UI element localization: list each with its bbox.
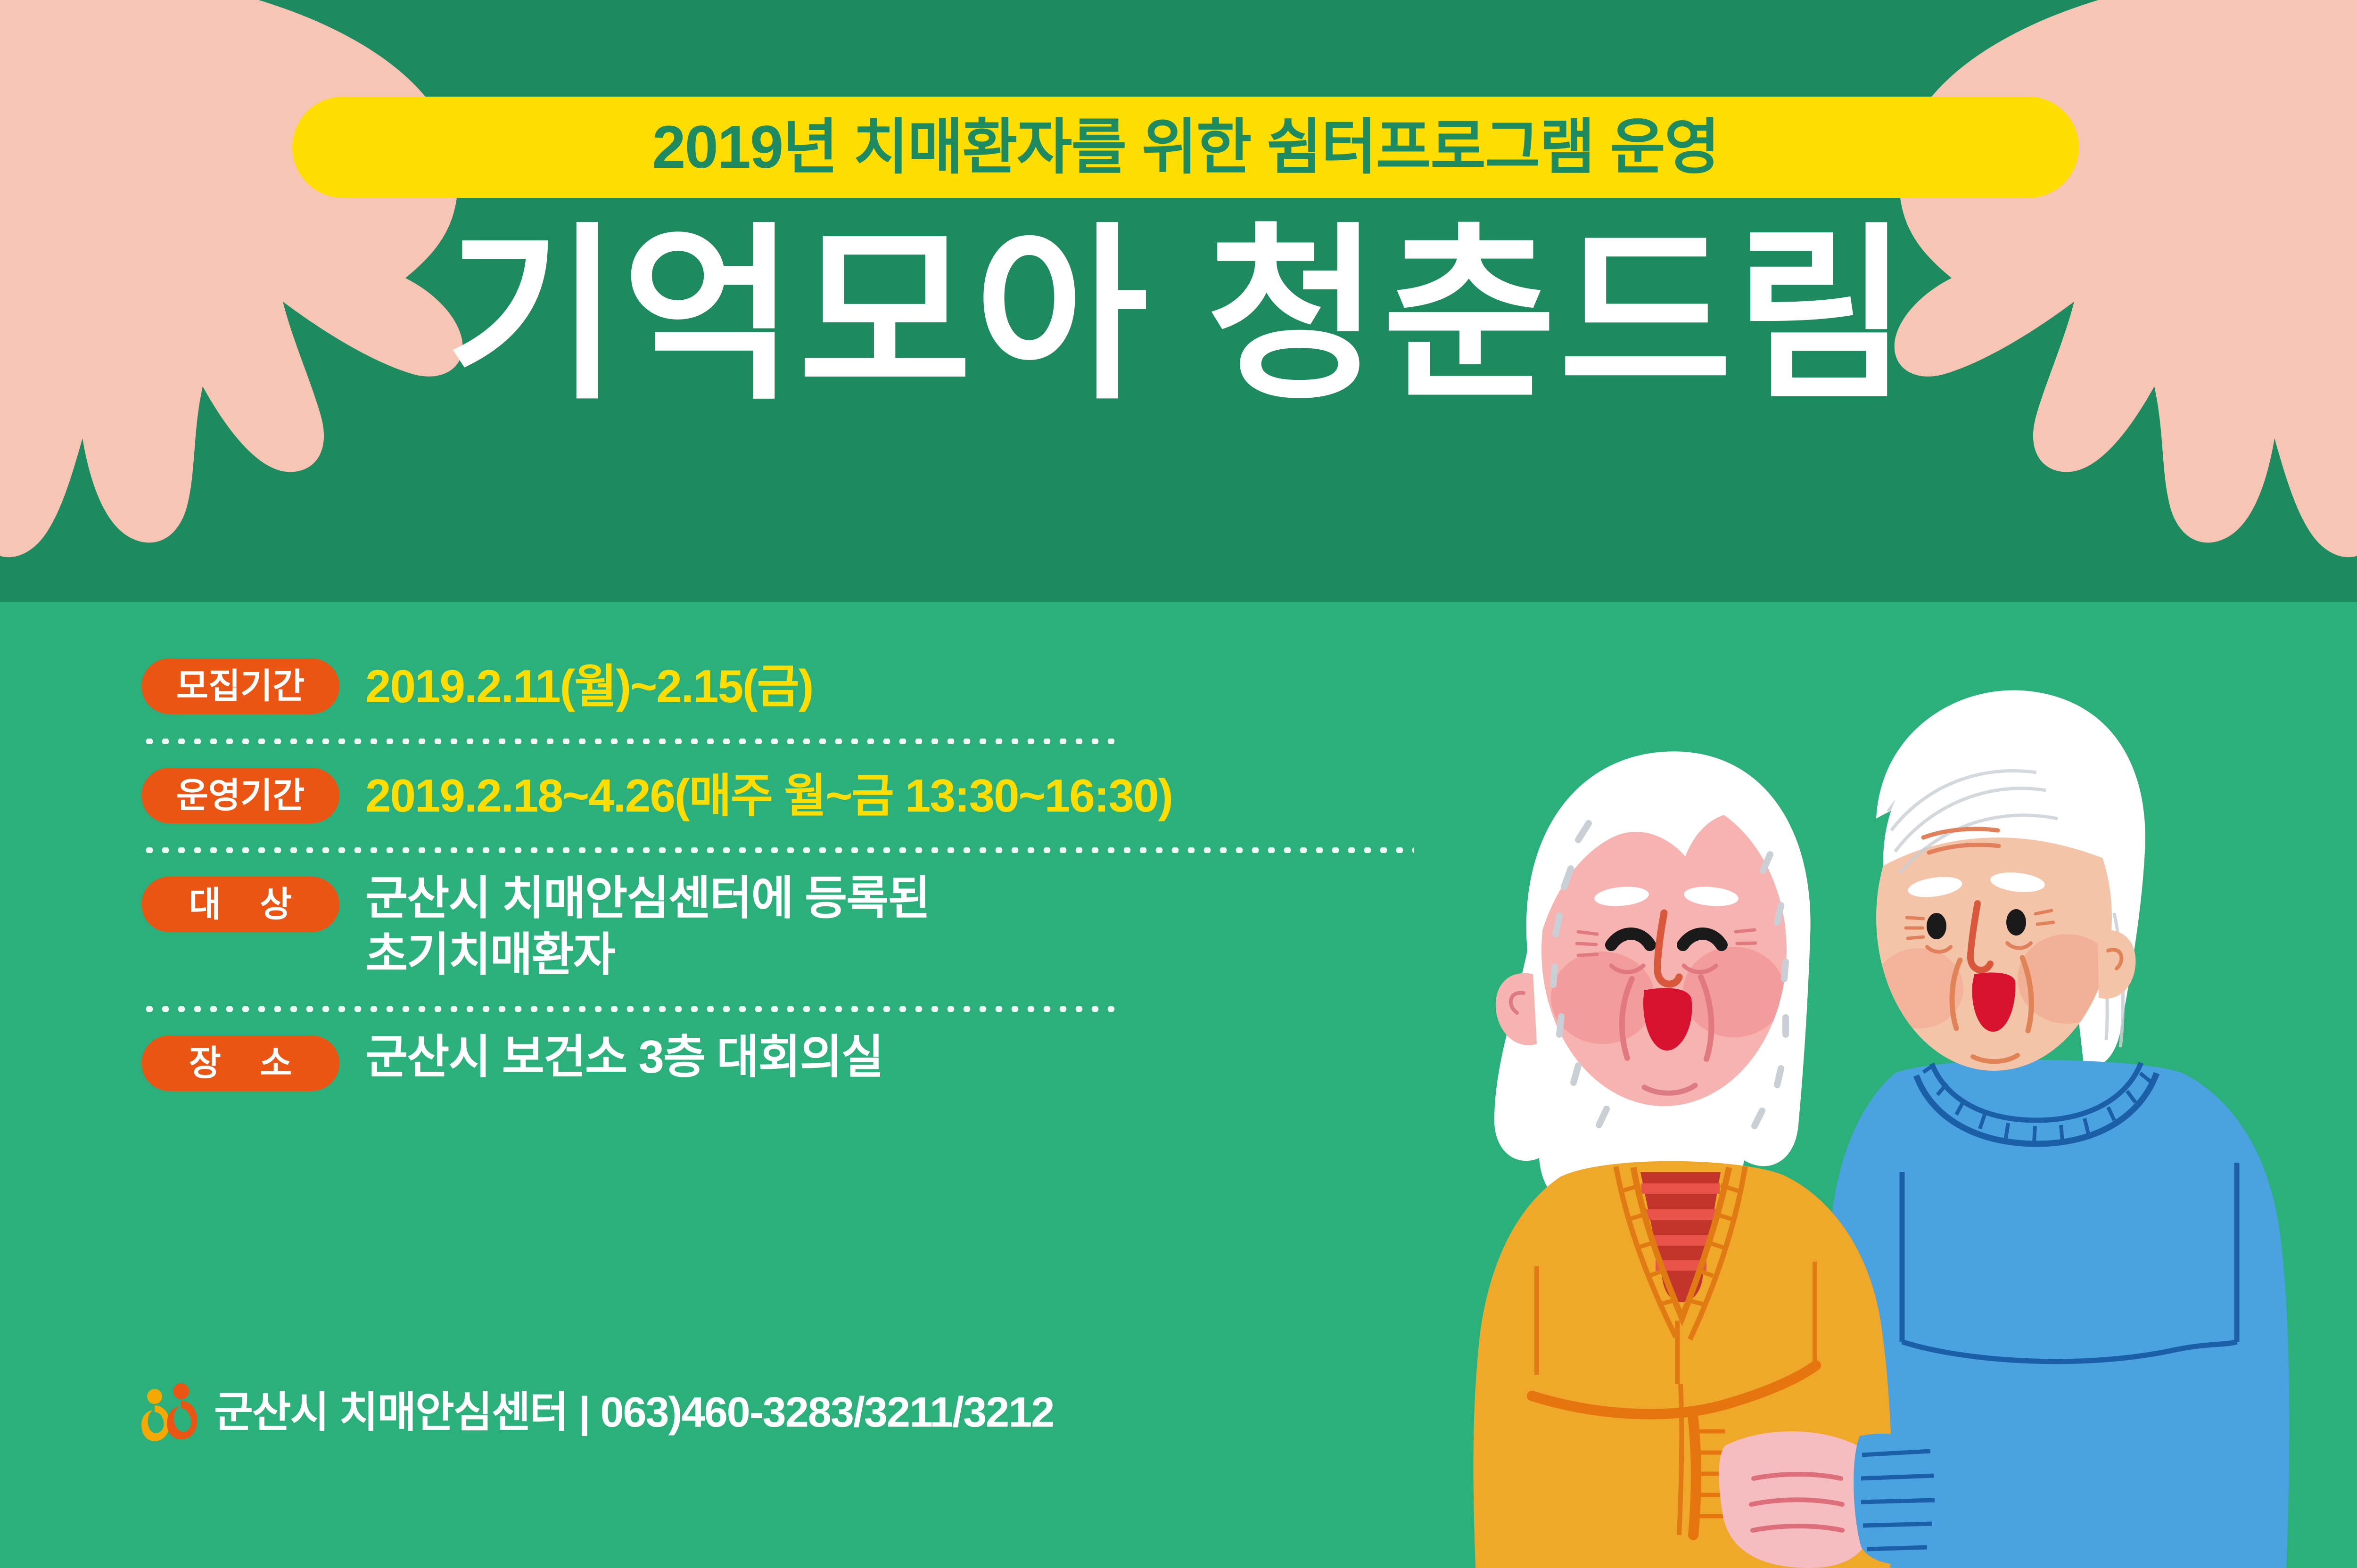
divider-2: [141, 847, 1414, 853]
footer-text: 군산시 치매안심센터 | 063)460-3283/3211/3212: [214, 1391, 1054, 1434]
divider-3: [141, 1006, 1122, 1012]
value-recruit-period: 2019.2.11(월)~2.15(금): [365, 658, 813, 715]
footer-contact: 군산시 치매안심센터 | 063)460-3283/3211/3212: [141, 1382, 1054, 1443]
spacer: [141, 983, 1508, 1006]
badge-operation-period: 운영기간: [141, 768, 339, 823]
page-title: 기억모아 청춘드림: [0, 222, 2357, 410]
spacer: [141, 744, 1508, 768]
info-row-target: 대 상 군산시 치매안심센터에 등록된 초기치매환자: [141, 877, 1508, 983]
subtitle-text: 2019년 치매환자를 위한 쉼터프로그램 운영: [652, 117, 1719, 178]
poster-root: 2019년 치매환자를 위한 쉼터프로그램 운영 기억모아 청춘드림: [0, 0, 2357, 1568]
subtitle-banner: 2019년 치매환자를 위한 쉼터프로그램 운영: [292, 97, 2079, 198]
badge-location: 장 소: [141, 1035, 339, 1091]
badge-recruit-period: 모집기간: [141, 658, 339, 714]
info-row-operation-period: 운영기간 2019.2.18~4.26(매주 월~금 13:30~16:30): [141, 768, 1508, 824]
two-people-logo-icon: [141, 1382, 198, 1443]
badge-target: 대 상: [141, 877, 339, 932]
value-location: 군산시 보건소 3층 대회의실: [365, 1029, 883, 1085]
value-target: 군산시 치매안심센터에 등록된 초기치매환자: [365, 870, 930, 983]
elderly-couple-illustration: [1339, 649, 2352, 1568]
spacer: [141, 715, 1508, 739]
poster-header: 2019년 치매환자를 위한 쉼터프로그램 운영 기억모아 청춘드림: [0, 0, 2357, 602]
value-operation-period: 2019.2.18~4.26(매주 월~금 13:30~16:30): [365, 768, 1172, 824]
info-list: 모집기간 2019.2.11(월)~2.15(금) 운영기간 2019.2.18…: [141, 658, 1508, 1091]
divider-1: [141, 739, 1122, 744]
spacer: [141, 824, 1508, 847]
info-row-location: 장 소 군산시 보건소 3층 대회의실: [141, 1035, 1508, 1091]
info-row-recruit-period: 모집기간 2019.2.11(월)~2.15(금): [141, 658, 1508, 715]
poster-body: 모집기간 2019.2.11(월)~2.15(금) 운영기간 2019.2.18…: [0, 602, 2357, 1568]
main-title-text: 기억모아 청춘드림: [445, 222, 1911, 410]
